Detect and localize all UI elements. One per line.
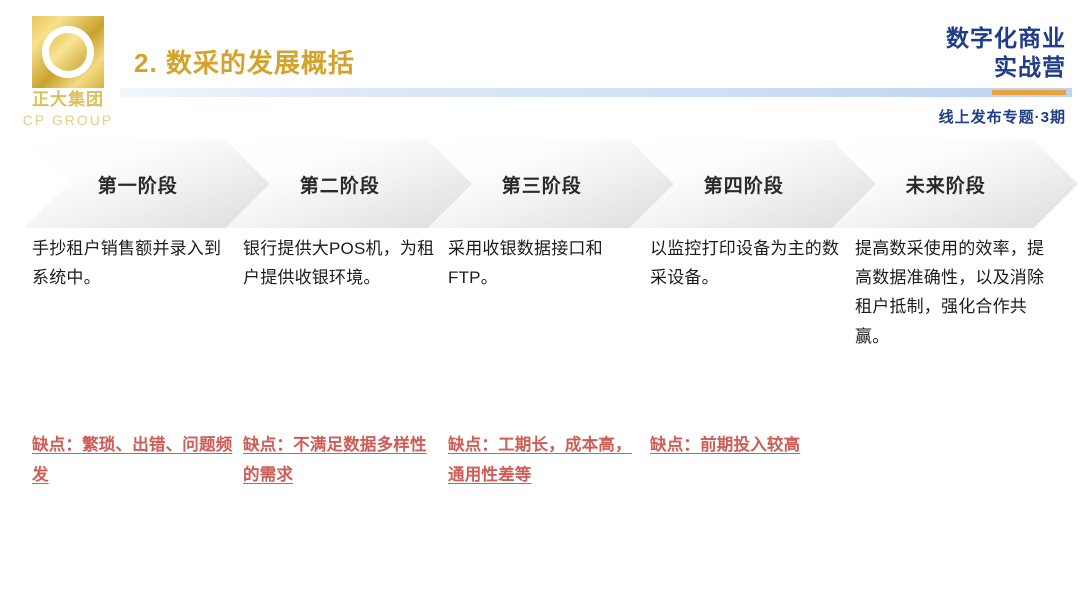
stage-body-3: 采用收银数据接口和FTP。 bbox=[448, 234, 644, 292]
stage-con-1: 缺点：繁琐、出错、问题频发 bbox=[32, 430, 238, 490]
brand-line-2: 实战营 bbox=[946, 53, 1066, 82]
brand-title: 数字化商业 实战营 bbox=[946, 24, 1066, 83]
stage-chevron-band: 第一阶段 第二阶段 第三阶段 第四阶段 未来阶段 bbox=[24, 140, 1060, 228]
stage-chevron-1[interactable]: 第一阶段 bbox=[24, 140, 270, 228]
stage-body-1: 手抄租户销售额并录入到系统中。 bbox=[32, 234, 228, 292]
stage-con-3: 缺点：工期长，成本高，通用性差等 bbox=[448, 430, 638, 490]
cp-group-logo: 正大集团 CP GROUP bbox=[18, 16, 118, 138]
logo-ring bbox=[49, 33, 87, 71]
brand-line-1: 数字化商业 bbox=[946, 24, 1066, 53]
stage-label: 第三阶段 bbox=[502, 171, 582, 198]
stage-body-5: 提高数采使用的效率，提高数据准确性，以及消除租户抵制，强化合作共赢。 bbox=[855, 234, 1051, 351]
stage-body-4: 以监控打印设备为主的数采设备。 bbox=[650, 234, 846, 292]
stage-label: 第一阶段 bbox=[98, 171, 178, 198]
stage-label: 第二阶段 bbox=[300, 171, 380, 198]
stage-con-2: 缺点：不满足数据多样性的需求 bbox=[243, 430, 441, 490]
logo-english-name: CP GROUP bbox=[18, 112, 118, 129]
logo-chinese-name: 正大集团 bbox=[18, 90, 118, 110]
brand-subtitle: 线上发布专题·3期 bbox=[939, 106, 1066, 127]
stage-con-4: 缺点：前期投入较高 bbox=[650, 430, 838, 460]
logo-inner-circle bbox=[42, 26, 94, 78]
stage-label: 第四阶段 bbox=[704, 171, 784, 198]
stage-label: 未来阶段 bbox=[906, 171, 986, 198]
cp-square-ring-logo-icon bbox=[32, 16, 104, 88]
brand-accent-bar bbox=[992, 90, 1066, 95]
page-title: 2. 数采的发展概括 bbox=[134, 43, 355, 80]
title-divider bbox=[120, 88, 1072, 97]
stage-body-2: 银行提供大POS机，为租户提供收银环境。 bbox=[243, 234, 439, 292]
slide-canvas: 正大集团 CP GROUP 2. 数采的发展概括 数字化商业 实战营 线上发布专… bbox=[0, 0, 1080, 606]
